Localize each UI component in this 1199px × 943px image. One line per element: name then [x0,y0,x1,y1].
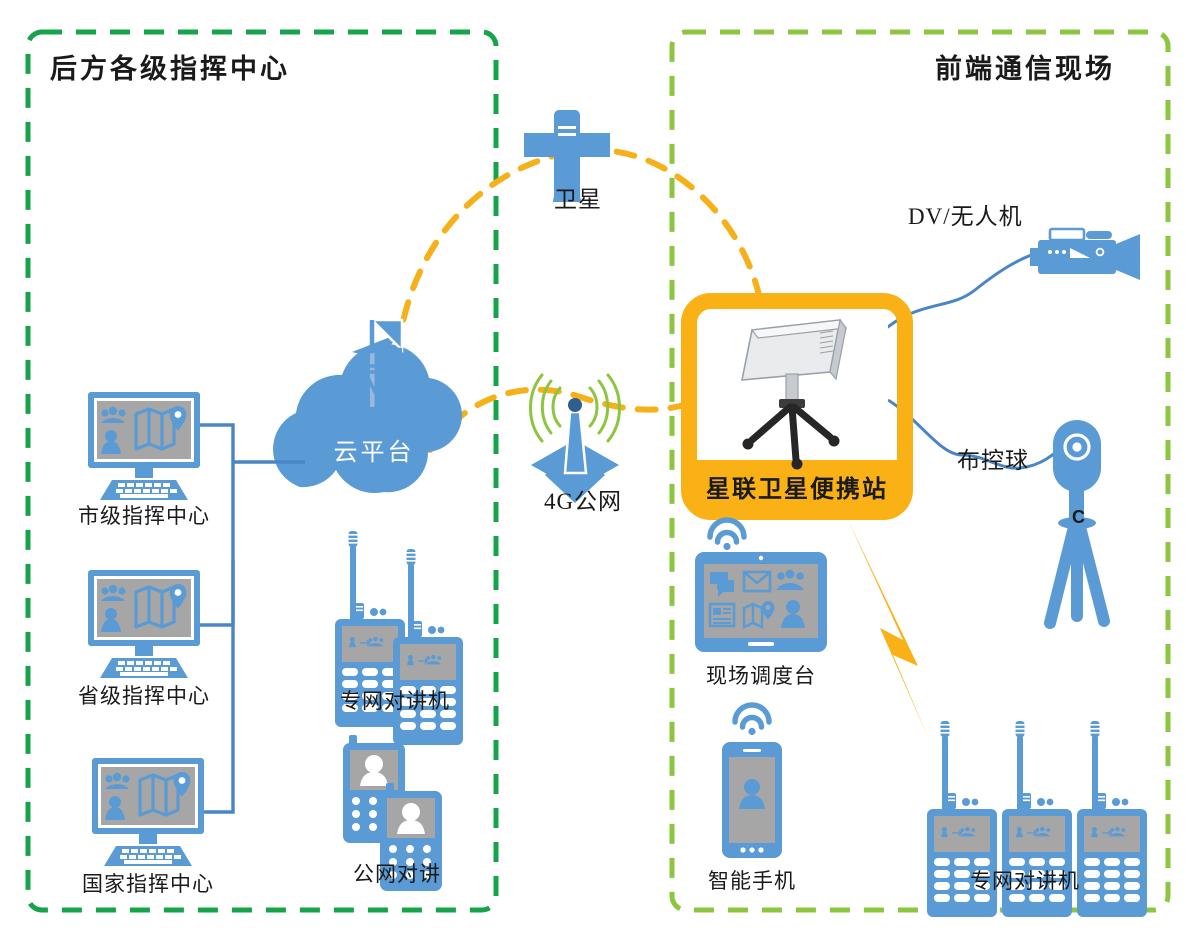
walkie-talkie-icon-left-2 [393,549,463,745]
smartphone-label: 智能手机 [708,865,796,895]
dv-drone-label: DV/无人机 [908,197,1023,231]
dispatch-console-label: 现场调度台 [706,660,816,690]
smartphone-wifi-icon [722,705,782,858]
province-center-label: 省级指挥中心 [78,680,210,710]
panel-left-title: 后方各级指挥中心 [50,47,290,86]
desktop-map-icon-province [88,570,200,678]
link-cloud-lte-station [430,390,700,450]
city-center-label: 市级指挥中心 [78,500,210,530]
national-center-label: 国家指挥中心 [82,868,214,898]
private-radio-right-label: 专网对讲机 [970,865,1080,895]
ptz-camera-badge: C [1072,507,1085,528]
portable-station-label: 星联卫星便携站 [706,469,888,504]
tablet-wifi-icon [695,520,827,652]
desktop-map-icon-city [88,392,200,500]
private-radio-left-label: 专网对讲机 [340,685,450,715]
lightning-bolt-icon [848,520,930,742]
lte-tower-label: 4G公网 [544,482,622,516]
satellite-label: 卫星 [554,180,602,214]
desktop-map-icon-national [92,758,204,866]
ptz-camera-label: 布控球 [957,441,1029,475]
diagram-canvas: 后方各级指挥中心 前端通信现场 卫星 云平台 4G公网 市级指挥中心 省级指挥中… [0,0,1199,943]
video-camera-icon [1030,229,1140,280]
panel-right-title: 前端通信现场 [935,47,1115,86]
walkie-talkie-icon-right-3 [1077,721,1147,917]
public-ptt-label: 公网对讲 [353,858,441,888]
cloud-label: 云平台 [334,432,415,467]
